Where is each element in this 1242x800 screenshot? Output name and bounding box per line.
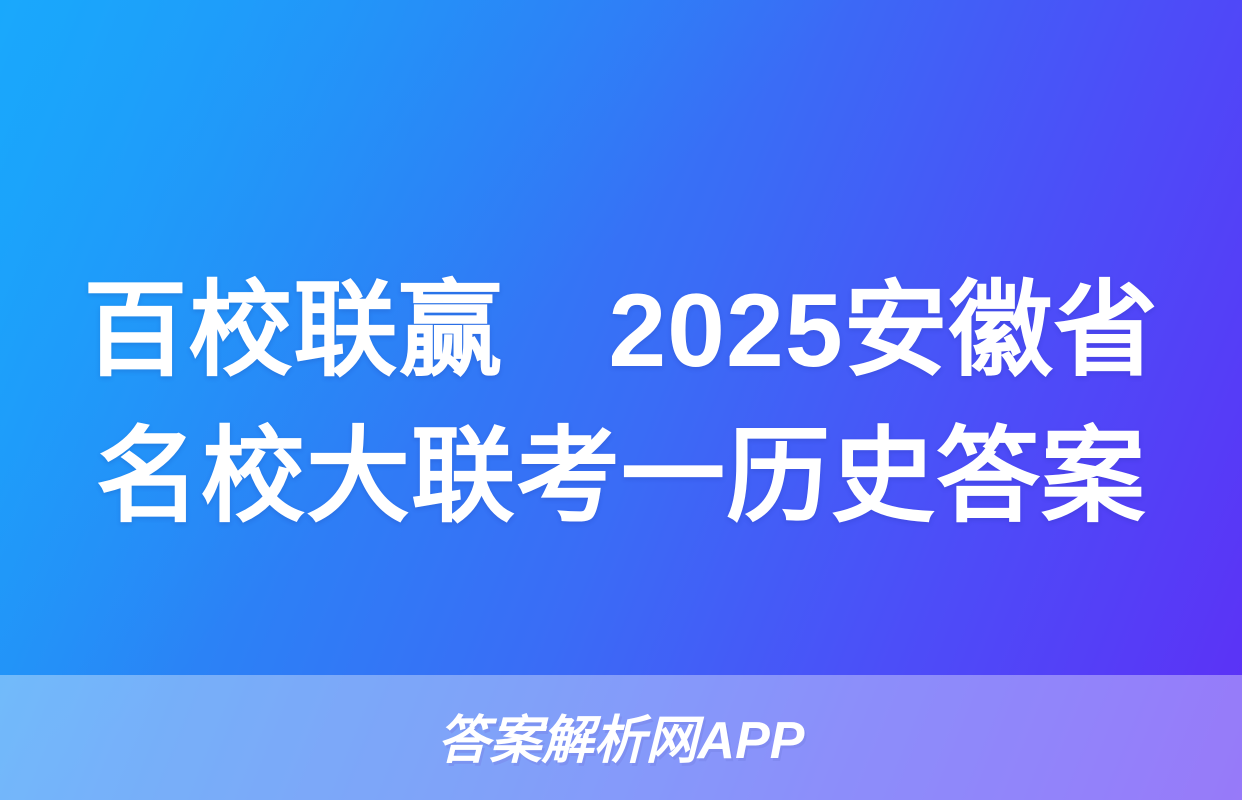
headline-line-1: 百校联赢 2025安徽省 [0, 258, 1242, 404]
app-watermark-label: 答案解析网APP [438, 698, 805, 773]
poster-canvas: 百校联赢 2025安徽省 名校大联考一历史答案 答案解析网APP [0, 0, 1242, 800]
headline-line-2: 名校大联考一历史答案 [0, 404, 1242, 550]
headline: 百校联赢 2025安徽省 名校大联考一历史答案 [0, 258, 1242, 550]
footer-band: 答案解析网APP [0, 675, 1242, 800]
